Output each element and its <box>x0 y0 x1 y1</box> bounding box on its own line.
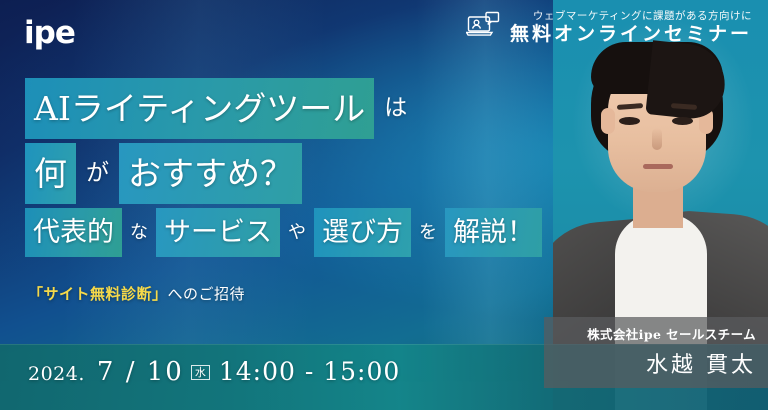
schedule-time: 14:00 - 15:00 <box>219 357 400 386</box>
headline-segment: を <box>411 209 445 257</box>
schedule-month-day: 7 / 10 <box>97 357 184 387</box>
nose <box>652 128 662 150</box>
headline-segment: おすすめ？ <box>119 143 302 204</box>
schedule-day-of-week: 水 <box>191 365 210 380</box>
headline-segment: 解説！ <box>445 208 542 257</box>
headline-segment: 何 <box>25 143 76 204</box>
headline-segment: な <box>122 209 156 257</box>
headline-segment: AIライティングツール <box>25 78 374 139</box>
headline-segment: や <box>280 209 314 257</box>
invite-highlight-text: 「サイト無料診断」 <box>28 285 168 303</box>
headline-segment: サービス <box>156 208 280 257</box>
headline-line-1: AIライティングツールは <box>25 78 545 139</box>
seminar-text-block: ウェブマーケティングに課題がある方向けに 無料オンラインセミナー <box>510 10 752 46</box>
headline-segment: 代表的 <box>25 208 122 257</box>
schedule-line: 2024. 7 / 10 水 14:00 - 15:00 <box>28 357 400 387</box>
eye-left <box>619 117 640 125</box>
seminar-strip: ウェブマーケティングに課題がある方向けに 無料オンラインセミナー <box>466 10 752 46</box>
presenter-name: 水越 貫太 <box>556 347 756 379</box>
seminar-headline-text: 無料オンラインセミナー <box>510 24 752 46</box>
presenter-company: 株式会社ipe セールスチーム <box>556 324 756 343</box>
seminar-banner: ipe ウェブマーケティングに課題がある方向けに 無料オンラインセミナー AIラ… <box>0 0 768 410</box>
ipe-logo[interactable]: ipe <box>24 18 75 49</box>
presenter-plate: 株式会社ipe セールスチーム 水越 貫太 <box>544 317 768 388</box>
shirt-v <box>637 222 689 308</box>
headline-line-3: 代表的なサービスや選び方を解説！ <box>25 208 545 257</box>
eye-right <box>672 117 693 125</box>
mouth <box>643 164 673 169</box>
invite-plain-text: へのご招待 <box>168 285 246 303</box>
page-title: AIライティングツールは 何がおすすめ？ 代表的なサービスや選び方を解説！ <box>25 78 545 257</box>
headline-segment: は <box>374 81 417 136</box>
schedule-year: 2024. <box>28 363 85 385</box>
ear-left <box>601 108 615 134</box>
headline-line-2: 何がおすすめ？ <box>25 143 545 204</box>
invite-note: 「サイト無料診断」へのご招待 <box>28 283 245 304</box>
laptop-webinar-icon <box>466 11 500 44</box>
seminar-lead-text: ウェブマーケティングに課題がある方向けに <box>533 10 752 22</box>
headline-segment: が <box>76 146 119 201</box>
headline-segment: 選び方 <box>314 208 411 257</box>
